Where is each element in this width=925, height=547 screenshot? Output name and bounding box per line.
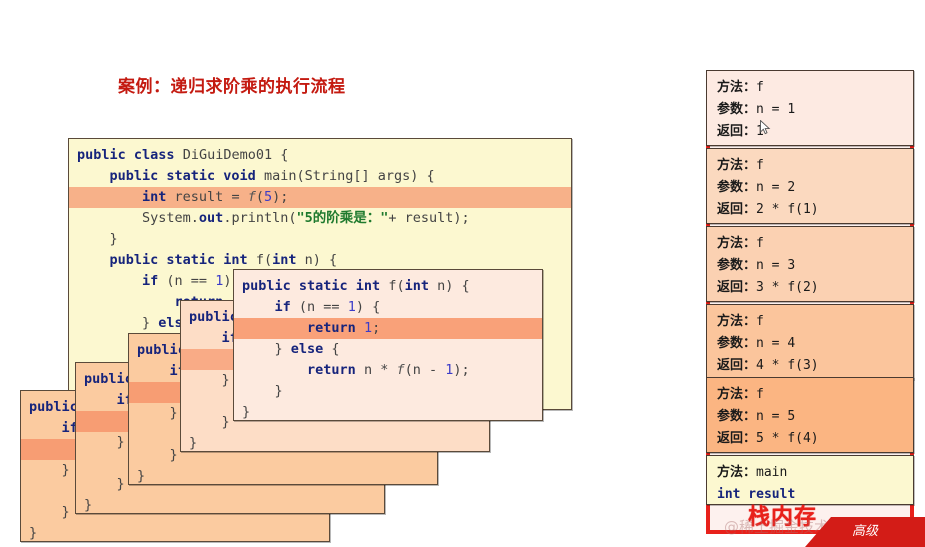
code-token: ); [272, 189, 288, 205]
code-token: } [84, 476, 125, 492]
code-token: 5 [264, 189, 272, 205]
code-token: n) { [305, 252, 338, 268]
code-token: int [142, 189, 175, 205]
stack-frame-return-line: 返回：5 * f(4) [717, 428, 913, 450]
stack-frame-method-line: 方法：f [717, 311, 913, 333]
slide-canvas: 案例：递归求阶乘的执行流程 public class DiGuiDemo01 {… [0, 0, 925, 547]
code-token: if [142, 273, 166, 289]
code-token: if [275, 299, 299, 315]
page-title: 案例：递归求阶乘的执行流程 [118, 72, 346, 97]
stack-frame-return-line: 返回：3 * f(2) [717, 277, 913, 299]
code-token [29, 420, 62, 436]
code-token: 1 [348, 299, 356, 315]
stack-frame-param-line: 参数：n = 1 [717, 99, 913, 121]
code-token: } [242, 404, 250, 420]
stack-frame-n4: 方法：f 参数：n = 4 返回：4 * f(3) [706, 304, 914, 380]
code-token: ) { [356, 299, 380, 315]
code-line: public static int f(int n) { [69, 250, 571, 271]
code-line: public static void main(String[] args) { [69, 166, 571, 187]
code-token: } [137, 447, 178, 463]
code-token [242, 299, 275, 315]
stack-frame-return-line: 返回：2 * f(1) [717, 199, 913, 221]
code-token [242, 362, 307, 378]
code-token [77, 189, 142, 205]
stack-frame-method-line: 方法：f [717, 384, 913, 406]
code-token: (n == [299, 299, 348, 315]
code-token: public static int [110, 252, 256, 268]
stack-frame-n2: 方法：f 参数：n = 2 返回：2 * f(1) [706, 148, 914, 224]
code-token: f [248, 189, 256, 205]
code-token: } [137, 468, 145, 484]
code-token [77, 168, 110, 184]
stack-frame-n5: 方法：f 参数：n = 5 返回：5 * f(4) [706, 377, 914, 453]
code-token: } [84, 497, 92, 513]
code-token: System. [77, 210, 199, 226]
code-token: } [29, 462, 78, 478]
stack-frame-method-line: 方法：f [717, 155, 913, 177]
code-line: } [129, 466, 437, 485]
stack-frame-method-line: 方法：main [717, 462, 913, 484]
code-token: } [29, 504, 70, 520]
code-line: int result = f(5); [69, 187, 571, 208]
code-token: public static void [110, 168, 264, 184]
stack-frame-n1: 方法：f 参数：n = 1 返回：1 [706, 70, 914, 146]
code-token [77, 252, 110, 268]
code-token [77, 273, 142, 289]
code-line: } [76, 495, 384, 514]
code-token: f [396, 362, 404, 378]
code-token: 1 [364, 320, 372, 336]
code-token: n * [364, 362, 397, 378]
stack-frame-param-line: 参数：n = 4 [717, 333, 913, 355]
code-token: } [77, 315, 158, 331]
code-token: f( [256, 252, 272, 268]
code-token: } [189, 372, 238, 388]
code-line: if (n == 1) { [234, 297, 542, 318]
stack-frame-method-line: 方法：f [717, 233, 913, 255]
code-token: public static int [242, 278, 388, 294]
code-token: return [307, 320, 364, 336]
code-token [242, 320, 307, 336]
code-token: + result); [388, 210, 469, 226]
stack-frame-param-line: 参数：n = 5 [717, 406, 913, 428]
code-token: } [242, 341, 291, 357]
code-token: (n == [166, 273, 215, 289]
code-token [84, 392, 117, 408]
stack-frame-method-line: 方法：f [717, 77, 913, 99]
code-card-frame-5: public static int f(int n) { if (n == 1)… [233, 269, 543, 421]
code-token: main(String[] args) { [264, 168, 435, 184]
code-line: } [234, 402, 542, 421]
code-line: public static int f(int n) { [234, 276, 542, 297]
code-token: ); [453, 362, 469, 378]
stack-frame-return-line: 返回：4 * f(3) [717, 355, 913, 377]
code-token [137, 363, 170, 379]
code-token: .println( [223, 210, 296, 226]
code-token: (n - [405, 362, 446, 378]
code-token: } [137, 405, 186, 421]
stack-frame-param-line: 参数：n = 2 [717, 177, 913, 199]
stack-frame-n3: 方法：f 参数：n = 3 返回：3 * f(2) [706, 226, 914, 302]
code-token: "5的阶乘是：" [296, 210, 388, 226]
code-token [189, 330, 222, 346]
code-token: ( [256, 189, 264, 205]
code-token: { [331, 341, 339, 357]
code-token: int [405, 278, 438, 294]
stack-frame-return-line: 返回：1 [717, 121, 913, 143]
code-line: System.out.println("5的阶乘是："+ result); [69, 208, 571, 229]
code-token: n) { [437, 278, 470, 294]
code-body-frame-5: public static int f(int n) { if (n == 1)… [234, 270, 542, 421]
stack-frame-main: 方法：main int result [706, 455, 914, 505]
code-line: public class DiGuiDemo01 { [69, 145, 571, 166]
code-token [77, 294, 175, 310]
code-token: return [307, 362, 364, 378]
code-token: f( [388, 278, 404, 294]
code-token: } [84, 434, 133, 450]
code-line: } [21, 523, 329, 542]
code-token: result = [175, 189, 248, 205]
code-token: ; [372, 320, 380, 336]
code-token: out [199, 210, 223, 226]
code-line: } [181, 433, 489, 452]
code-token: class [134, 147, 183, 163]
code-token: } [242, 383, 283, 399]
code-token: } [189, 435, 197, 451]
code-token: } [77, 231, 118, 247]
mouse-cursor-icon [760, 120, 771, 135]
code-token: } [29, 525, 37, 541]
code-token: else [291, 341, 332, 357]
code-line: } [69, 229, 571, 250]
code-token: public [77, 147, 134, 163]
code-line: return n * f(n - 1); [234, 360, 542, 381]
code-line: } [234, 381, 542, 402]
code-line: } else { [234, 339, 542, 360]
code-line: return 1; [234, 318, 542, 339]
stack-frame-param-line: 参数：n = 3 [717, 255, 913, 277]
code-token: DiGuiDemo01 { [183, 147, 289, 163]
code-token: int [272, 252, 305, 268]
code-token: } [189, 414, 230, 430]
